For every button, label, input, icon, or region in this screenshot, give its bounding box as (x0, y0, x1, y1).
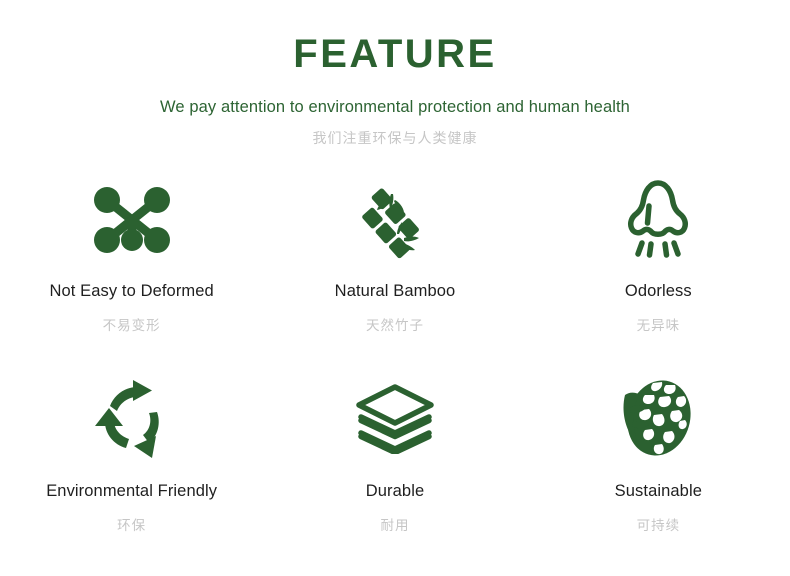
nose-icon (625, 170, 691, 270)
feature-label-chinese: 不易变形 (103, 314, 161, 334)
feature-item-environmental-friendly: Environmental Friendly 环保 (0, 366, 263, 562)
feature-grid: Not Easy to Deformed 不易变形 (0, 170, 790, 562)
section-header: FEATURE We pay attention to environmenta… (0, 0, 790, 148)
feature-label-english: Not Easy to Deformed (50, 282, 214, 301)
x-nodes-icon (93, 170, 171, 270)
feature-section: FEATURE We pay attention to environmenta… (0, 0, 790, 576)
recycle-icon (92, 366, 172, 470)
feature-label-chinese: 耐用 (380, 514, 409, 534)
feature-label-english: Sustainable (615, 482, 702, 501)
feature-item-natural-bamboo: Natural Bamboo 天然竹子 (263, 170, 526, 366)
feature-item-sustainable: Sustainable 可持续 (527, 366, 790, 562)
feature-label-chinese: 天然竹子 (366, 314, 424, 334)
feature-label-english: Odorless (625, 282, 692, 301)
feature-item-odorless: Odorless 无异味 (527, 170, 790, 366)
feature-label-chinese: 可持续 (637, 514, 681, 534)
subtitle-chinese: 我们注重环保与人类健康 (0, 128, 790, 148)
layers-icon (353, 366, 437, 470)
feature-label-english: Environmental Friendly (46, 482, 217, 501)
feature-item-durable: Durable 耐用 (263, 366, 526, 562)
feature-label-english: Durable (366, 482, 424, 501)
page-title: FEATURE (0, 34, 790, 74)
feature-item-not-easy-to-deformed: Not Easy to Deformed 不易变形 (0, 170, 263, 366)
feature-label-english: Natural Bamboo (335, 282, 456, 301)
globe-leaf-icon (619, 366, 697, 470)
bamboo-icon (358, 170, 432, 270)
feature-label-chinese: 无异味 (637, 314, 681, 334)
subtitle-english: We pay attention to environmental protec… (0, 98, 790, 117)
feature-label-chinese: 环保 (117, 514, 146, 534)
